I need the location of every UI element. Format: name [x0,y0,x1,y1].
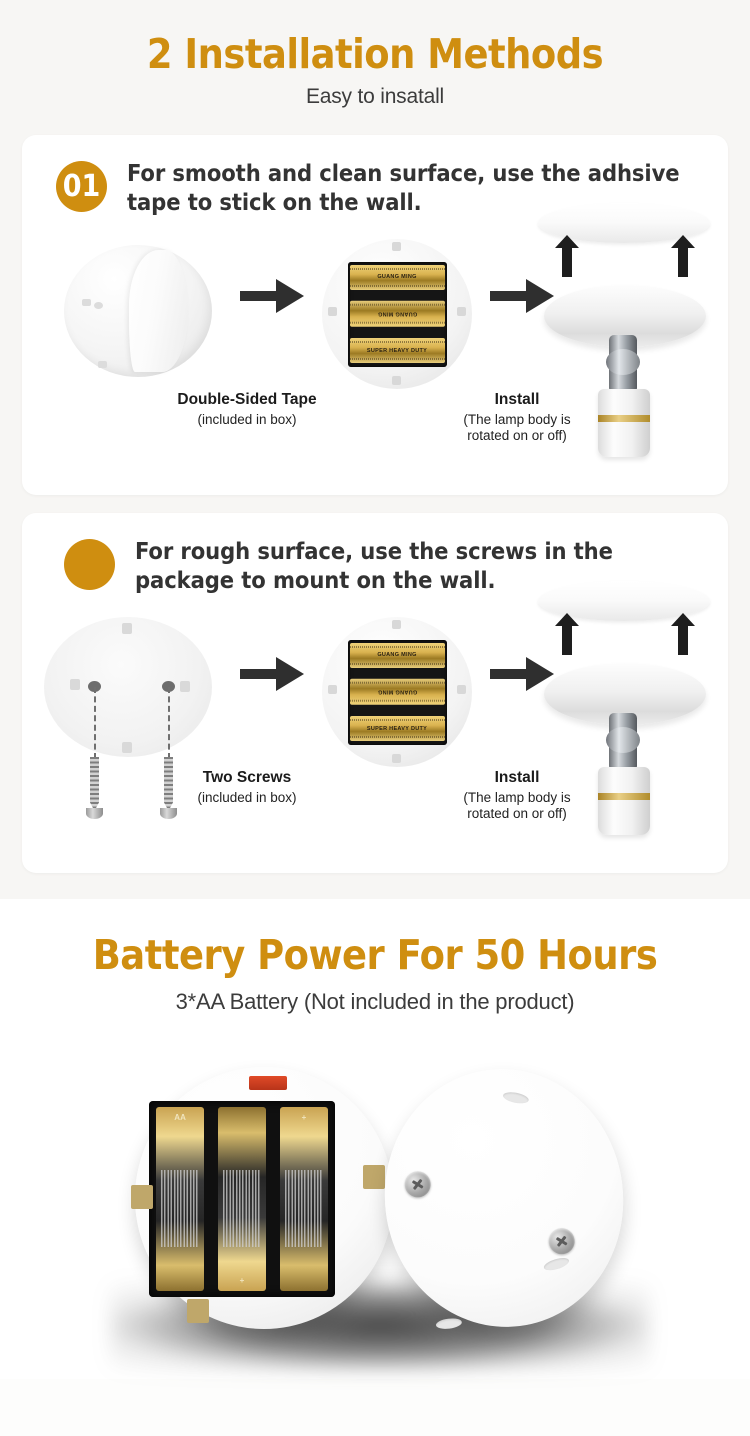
contact-tab [187,1299,209,1323]
battery-cell: GUANG MING [350,679,445,705]
screw-icon [86,757,103,819]
step-2-illustrations: GUANG MING GUANG MING SUPER HEAVY DUTY [22,595,728,863]
plate-tab [122,742,132,753]
battery-compartment: AA + + [149,1101,335,1297]
contact-tab [363,1165,385,1189]
tape-nub [94,302,103,309]
battery-brand-label: GUANG MING [377,689,416,695]
battery-well: GUANG MING GUANG MING SUPER HEAVY DUTY [348,262,447,367]
plate-tab [180,681,190,692]
dashed-leader-icon [168,687,170,759]
up-arrow-icon [678,625,688,655]
caption-install: Install (The lamp body is rotated on or … [422,391,612,444]
battery-product-photo: AA + + [0,1049,750,1379]
red-pull-tab [249,1076,287,1090]
disc-tab [328,685,337,694]
battery-cell: GUANG MING [350,265,445,291]
disc-tab [392,376,401,385]
disc-tab [457,685,466,694]
installation-title: 2 Installation Methods [0,30,750,78]
aa-battery: + [280,1107,328,1291]
battery-brand-label: GUANG MING [377,274,416,280]
cover-notch [502,1090,529,1105]
plate-tab [122,623,132,634]
cover-notch [543,1256,571,1273]
aa-battery: + [218,1107,266,1291]
caption-double-sided-tape: Double-Sided Tape (included in box) [132,391,362,428]
disc-tab [457,307,466,316]
battery-brand-label: SUPER HEAVY DUTY [367,348,427,354]
battery-cell: SUPER HEAVY DUTY [350,338,445,364]
battery-brand-label: SUPER HEAVY DUTY [367,726,427,732]
step-1-badge: 01 [56,161,107,212]
right-arrow-icon [240,657,304,691]
lamp-body-open: AA + + [135,1067,393,1329]
battery-well: GUANG MING GUANG MING SUPER HEAVY DUTY [348,640,447,745]
installation-section: 2 Installation Methods Easy to insatall … [0,0,750,899]
dashed-leader-icon [94,687,96,759]
battery-cell: GUANG MING [350,301,445,327]
plate-tab [70,679,80,690]
caption-install: Install (The lamp body is rotated on or … [422,769,612,822]
step-2-badge [64,539,115,590]
installation-subtitle: Easy to insatall [0,85,750,109]
battery-cell: GUANG MING [350,643,445,669]
swivel-ball [606,349,640,375]
up-arrow-icon [562,247,572,277]
tape-nub [82,299,91,306]
battery-brand-label: GUANG MING [377,311,416,317]
battery-title: Battery Power For 50 Hours [0,931,750,980]
up-arrow-icon [678,247,688,277]
mounting-plate-illustration [44,617,212,757]
up-arrow-icon [562,625,572,655]
swivel-ball [606,727,640,753]
battery-cell: SUPER HEAVY DUTY [350,716,445,742]
right-arrow-icon [240,279,304,313]
battery-brand-label: GUANG MING [377,652,416,658]
disc-tab [392,620,401,629]
battery-section: Battery Power For 50 Hours 3*AA Battery … [0,899,750,1379]
phillips-screw-icon [547,1227,576,1256]
disc-tab [392,242,401,251]
phillips-screw-icon [403,1170,432,1199]
product-infographic-page: 2 Installation Methods Easy to insatall … [0,0,750,1436]
tape-nub [98,361,107,368]
caption-two-screws: Two Screws (included in box) [152,769,342,806]
disc-tab [392,754,401,763]
tape-liner-peel [129,250,188,371]
method-card-2: For rough surface, use the screws in the… [22,513,728,873]
battery-subtitle: 3*AA Battery (Not included in the produc… [0,989,750,1015]
contact-tab [131,1185,153,1209]
battery-compartment-illustration: GUANG MING GUANG MING SUPER HEAVY DUTY [322,617,472,767]
double-sided-tape-illustration [64,245,212,377]
step-1-illustrations: GUANG MING GUANG MING SUPER HEAVY DUTY [22,217,728,485]
disc-tab [328,307,337,316]
method-card-1: 01 For smooth and clean surface, use the… [22,135,728,495]
battery-compartment-illustration: GUANG MING GUANG MING SUPER HEAVY DUTY [322,239,472,389]
aa-battery: AA [156,1107,204,1291]
